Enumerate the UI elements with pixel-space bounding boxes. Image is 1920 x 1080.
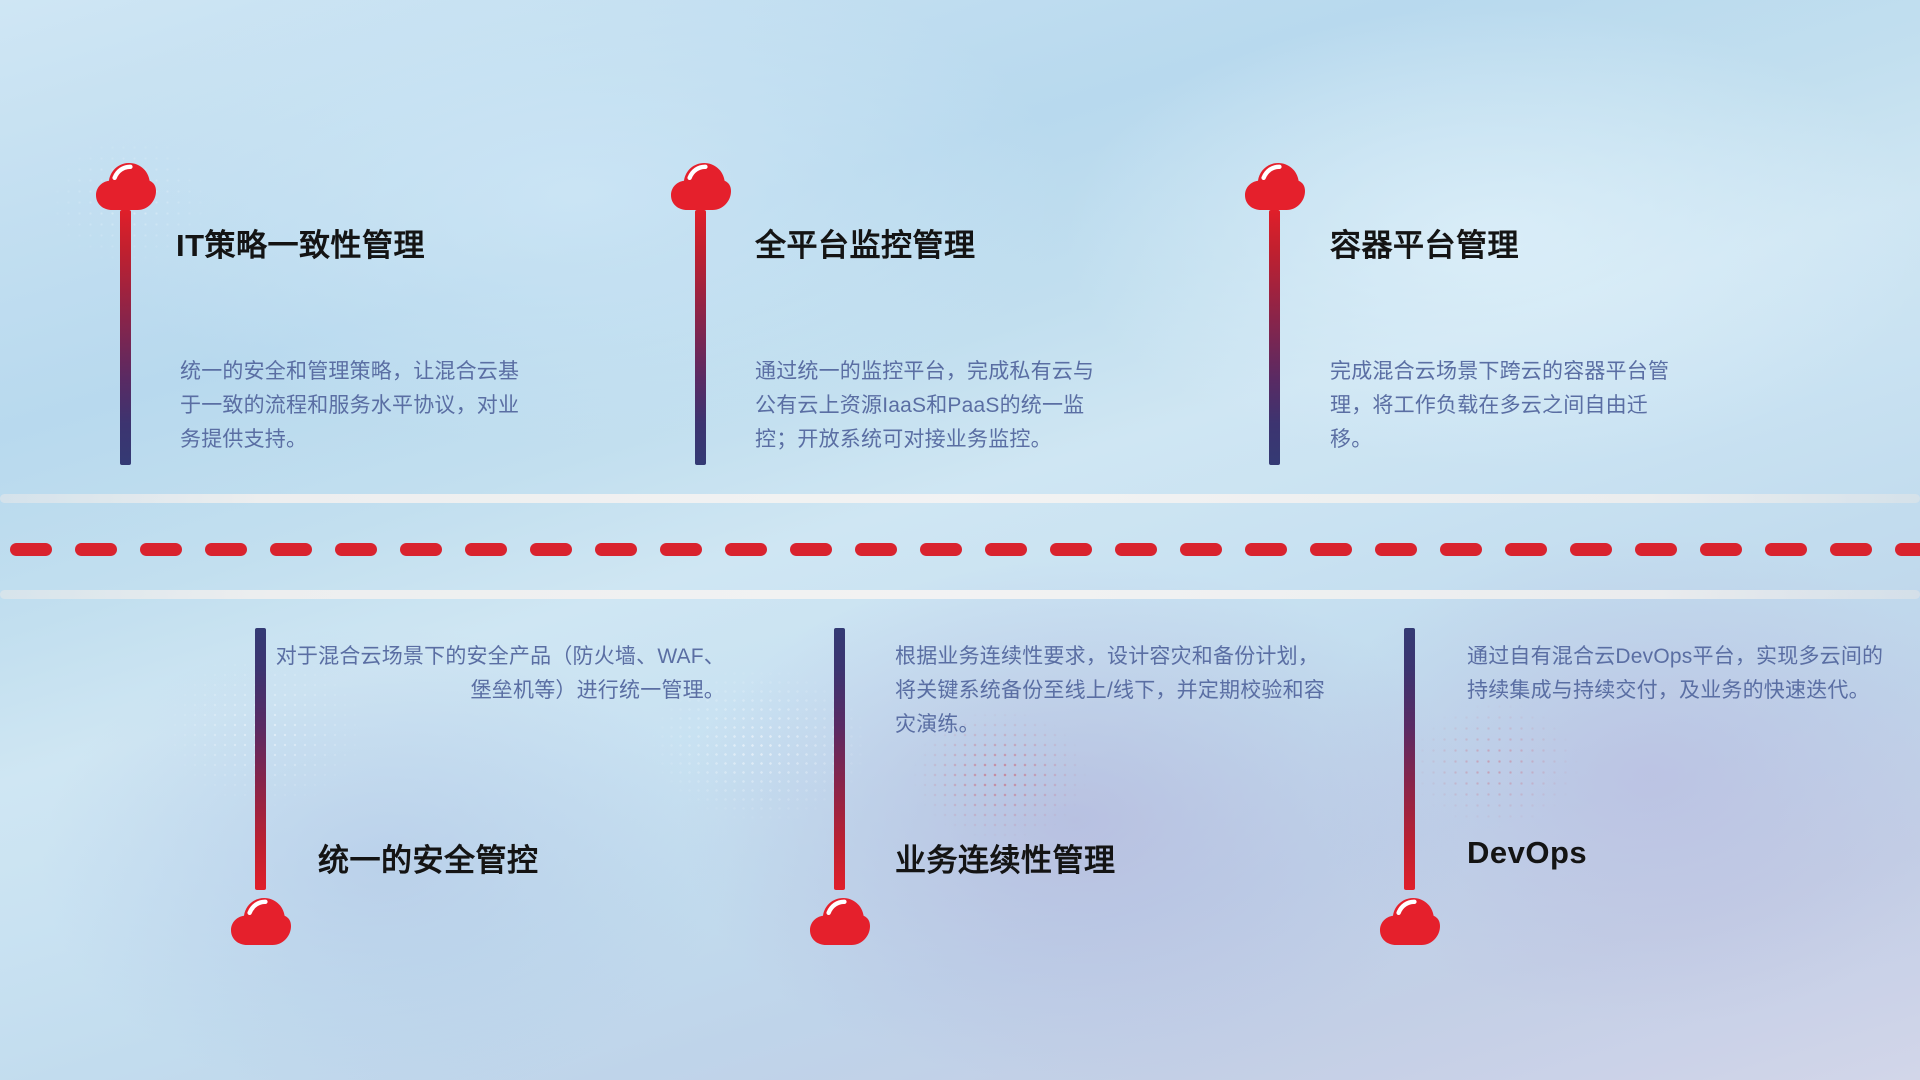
cloud-icon <box>808 895 872 947</box>
divider-dash <box>335 543 377 556</box>
divider-dash <box>1440 543 1482 556</box>
item-body-text: 对于混合云场景下的安全产品（防火墙、WAF、堡垒机等）进行统一管理。 <box>260 640 725 708</box>
divider-dash <box>10 543 52 556</box>
item-heading: IT策略一致性管理 <box>176 220 425 265</box>
item-body-text: 统一的安全和管理策略，让混合云基于一致的流程和服务水平协议，对业务提供支持。 <box>180 355 540 457</box>
cloud-icon <box>94 160 158 212</box>
cloud-icon <box>1243 160 1307 212</box>
cloud-icon <box>669 160 733 212</box>
item-heading: 容器平台管理 <box>1330 220 1519 265</box>
divider-dash <box>920 543 962 556</box>
divider-dash <box>985 543 1027 556</box>
divider-dash <box>725 543 767 556</box>
divider-dash <box>1635 543 1677 556</box>
divider-dash <box>1830 543 1872 556</box>
timeline-stem <box>695 210 706 465</box>
divider-dash <box>660 543 702 556</box>
dashed-divider <box>0 542 1920 556</box>
divider-dash <box>790 543 832 556</box>
divider-dash <box>1765 543 1807 556</box>
item-body-text: 完成混合云场景下跨云的容器平台管理，将工作负载在多云之间自由迁移。 <box>1330 355 1690 457</box>
item-body-text: 通过自有混合云DevOps平台，实现多云间的持续集成与持续交付，及业务的快速迭代… <box>1467 640 1887 708</box>
item-heading: 业务连续性管理 <box>895 835 1116 880</box>
divider-dash <box>1180 543 1222 556</box>
item-heading: 全平台监控管理 <box>755 220 976 265</box>
divider-dash <box>1570 543 1612 556</box>
divider-dash <box>75 543 117 556</box>
divider-dash <box>1115 543 1157 556</box>
timeline-stem <box>1404 628 1415 890</box>
divider-dash <box>1895 543 1920 556</box>
divider-dash <box>595 543 637 556</box>
divider-dash <box>1050 543 1092 556</box>
timeline-stem <box>1269 210 1280 465</box>
item-heading: 统一的安全管控 <box>318 835 539 880</box>
divider-dash <box>1310 543 1352 556</box>
item-heading: DevOps <box>1467 835 1587 871</box>
divider-dash <box>400 543 442 556</box>
divider-dash <box>1700 543 1742 556</box>
item-body-text: 通过统一的监控平台，完成私有云与公有云上资源IaaS和PaaS的统一监控；开放系… <box>755 355 1115 457</box>
timeline-stem <box>834 628 845 890</box>
divider-dash <box>1375 543 1417 556</box>
divider-dash <box>855 543 897 556</box>
infographic-canvas: IT策略一致性管理 统一的安全和管理策略，让混合云基于一致的流程和服务水平协议，… <box>0 0 1920 1080</box>
item-body-text: 根据业务连续性要求，设计容灾和备份计划，将关键系统备份至线上/线下，并定期校验和… <box>895 640 1335 742</box>
timeline-stem <box>120 210 131 465</box>
dot-pattern-decoration <box>1395 690 1595 840</box>
divider-dash <box>530 543 572 556</box>
divider-dash <box>205 543 247 556</box>
divider-dash <box>140 543 182 556</box>
cloud-icon <box>229 895 293 947</box>
divider-dash <box>1245 543 1287 556</box>
divider-dash <box>270 543 312 556</box>
divider-dash <box>465 543 507 556</box>
divider-line-upper <box>0 494 1920 503</box>
cloud-icon <box>1378 895 1442 947</box>
divider-dash <box>1505 543 1547 556</box>
divider-line-lower <box>0 590 1920 599</box>
